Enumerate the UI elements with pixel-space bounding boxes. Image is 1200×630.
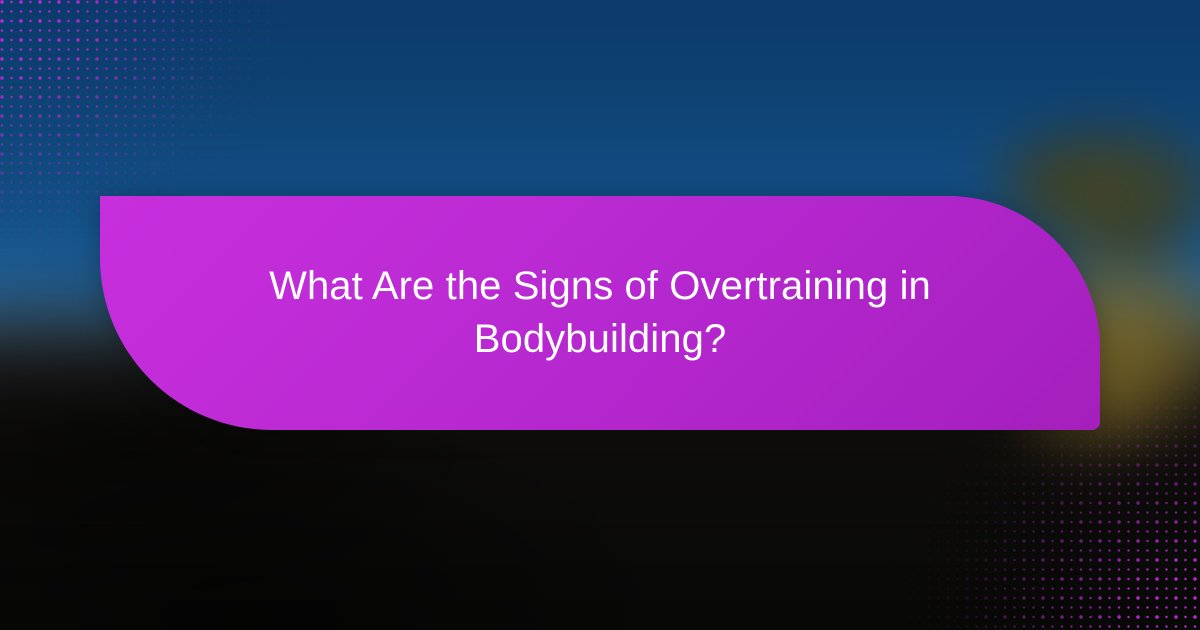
title-banner: What Are the Signs of Overtraining in Bo…	[100, 196, 1100, 430]
social-card: What Are the Signs of Overtraining in Bo…	[0, 0, 1200, 630]
page-title: What Are the Signs of Overtraining in Bo…	[100, 260, 1100, 366]
